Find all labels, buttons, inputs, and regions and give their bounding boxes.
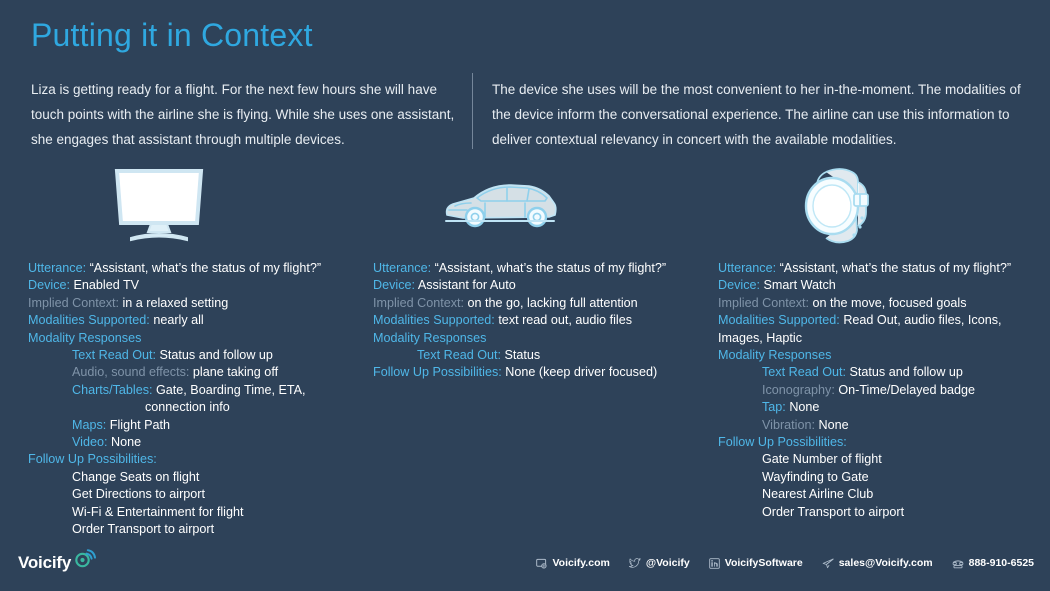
column-enabled-tv: Utterance: “Assistant, what’s the status…: [28, 160, 368, 539]
spec-row: Implied Context: on the move, focused go…: [718, 295, 1038, 312]
phone-icon: [952, 558, 964, 569]
spec-row: Utterance: “Assistant, what’s the status…: [718, 260, 1038, 277]
spec-row: Implied Context: on the go, lacking full…: [373, 295, 713, 312]
spec-row: Modalities Supported: nearly all: [28, 312, 368, 329]
spec-value: connection info: [145, 400, 230, 414]
contact-globe[interactable]: Voicify.com: [536, 557, 609, 569]
spec-value: Gate, Boarding Time, ETA,: [156, 383, 306, 397]
spec-value: Flight Path: [110, 418, 170, 432]
globe-icon: [536, 558, 547, 569]
spec-row: Tap: None: [718, 399, 1038, 416]
contact-label: VoicifySoftware: [725, 557, 803, 569]
column-smart-watch: Utterance: “Assistant, what’s the status…: [718, 160, 1038, 521]
spec-value: Nearest Airline Club: [762, 487, 873, 501]
spec-value: None: [818, 418, 848, 432]
spec-row: Order Transport to airport: [718, 504, 1038, 521]
spec-label: Utterance:: [28, 261, 90, 275]
spec-row: Iconography: On-Time/Delayed badge: [718, 382, 1038, 399]
spec-label: Iconography:: [762, 383, 838, 397]
spec-value: Assistant for Auto: [418, 278, 516, 292]
voicify-logo[interactable]: Voicify: [18, 551, 97, 575]
spec-row: Modality Responses: [373, 330, 713, 347]
contact-phone[interactable]: 888-910-6525: [952, 557, 1034, 569]
column-assistant-for-auto: Utterance: “Assistant, what’s the status…: [373, 160, 713, 382]
spec-row: Device: Enabled TV: [28, 277, 368, 294]
spec-row: Follow Up Possibilities:: [28, 451, 368, 468]
spec-row: Wayfinding to Gate: [718, 469, 1038, 486]
intro-divider: [472, 73, 473, 149]
spec-row: Device: Smart Watch: [718, 277, 1038, 294]
footer-bar: Voicify Voicify.com@VoicifyVoicifySoftwa…: [0, 543, 1050, 591]
spec-row: Text Read Out: Status and follow up: [28, 347, 368, 364]
spec-label: Vibration:: [762, 418, 818, 432]
spec-value: “Assistant, what’s the status of my flig…: [435, 261, 666, 275]
spec-value: nearly all: [153, 313, 203, 327]
twitter-icon: [629, 558, 641, 569]
spec-row: Follow Up Possibilities:: [718, 434, 1038, 451]
spec-label: Modality Responses: [28, 331, 141, 345]
footer-contacts: Voicify.com@VoicifyVoicifySoftwaresales@…: [536, 557, 1034, 569]
spec-row: Utterance: “Assistant, what’s the status…: [373, 260, 713, 277]
spec-row: Wi-Fi & Entertainment for flight: [28, 504, 368, 521]
spec-row: Nearest Airline Club: [718, 486, 1038, 503]
voicify-swirl-icon: [73, 546, 97, 575]
spec-label: Text Read Out:: [417, 348, 505, 362]
spec-label: Implied Context:: [28, 296, 123, 310]
spec-label: Follow Up Possibilities:: [28, 452, 157, 466]
contact-label: @Voicify: [646, 557, 690, 569]
spec-row: Modality Responses: [718, 347, 1038, 364]
spec-label: Device:: [373, 278, 418, 292]
page-title: Putting it in Context: [31, 17, 313, 54]
spec-row: Modality Responses: [28, 330, 368, 347]
spec-value: Gate Number of flight: [762, 452, 882, 466]
spec-label: Video:: [72, 435, 111, 449]
spec-row: Text Read Out: Status and follow up: [718, 364, 1038, 381]
spec-label: Implied Context:: [718, 296, 813, 310]
spec-value: on the go, lacking full attention: [468, 296, 638, 310]
spec-row: Video: None: [28, 434, 368, 451]
spec-value: Get Directions to airport: [72, 487, 205, 501]
spec-label: Text Read Out:: [762, 365, 850, 379]
spec-value: On-Time/Delayed badge: [838, 383, 975, 397]
spec-value: None: [789, 400, 819, 414]
spec-label: Implied Context:: [373, 296, 468, 310]
spec-label: Charts/Tables:: [72, 383, 156, 397]
spec-value: Status and follow up: [850, 365, 963, 379]
email-icon: [822, 558, 834, 569]
spec-value: in a relaxed setting: [123, 296, 229, 310]
spec-value: Order Transport to airport: [72, 522, 214, 536]
spec-row: Audio, sound effects: plane taking off: [28, 364, 368, 381]
spec-label: Follow Up Possibilities:: [718, 435, 847, 449]
spec-label: Modality Responses: [373, 331, 486, 345]
spec-value: “Assistant, what’s the status of my flig…: [780, 261, 1011, 275]
spec-row: Implied Context: in a relaxed setting: [28, 295, 368, 312]
linkedin-icon: [709, 558, 720, 569]
logo-wordmark: Voicify: [18, 553, 71, 573]
spec-label: Maps:: [72, 418, 110, 432]
spec-value: Wi-Fi & Entertainment for flight: [72, 505, 243, 519]
spec-list: Utterance: “Assistant, what’s the status…: [373, 260, 713, 382]
spec-label: Audio, sound effects:: [72, 365, 193, 379]
spec-label: Utterance:: [373, 261, 435, 275]
spec-row: Charts/Tables: Gate, Boarding Time, ETA,: [28, 382, 368, 399]
spec-list: Utterance: “Assistant, what’s the status…: [28, 260, 368, 539]
slide-canvas: Putting it in Context Liza is getting re…: [0, 0, 1050, 591]
intro-paragraph-left: Liza is getting ready for a flight. For …: [31, 77, 456, 152]
spec-row: Get Directions to airport: [28, 486, 368, 503]
spec-value: Wayfinding to Gate: [762, 470, 869, 484]
spec-value: Status: [505, 348, 541, 362]
spec-row: Modalities Supported: Read Out, audio fi…: [718, 312, 1038, 347]
spec-value: None: [111, 435, 141, 449]
car-icon: [373, 160, 713, 250]
spec-row: Gate Number of flight: [718, 451, 1038, 468]
intro-paragraph-right: The device she uses will be the most con…: [492, 77, 1027, 152]
spec-label: Device:: [28, 278, 74, 292]
spec-value: on the move, focused goals: [813, 296, 967, 310]
spec-row: connection info: [28, 399, 368, 416]
spec-label: Utterance:: [718, 261, 780, 275]
contact-email[interactable]: sales@Voicify.com: [822, 557, 933, 569]
spec-value: Status and follow up: [160, 348, 273, 362]
spec-value: Enabled TV: [74, 278, 140, 292]
spec-row: Maps: Flight Path: [28, 417, 368, 434]
contact-label: 888-910-6525: [969, 557, 1034, 569]
contact-label: sales@Voicify.com: [839, 557, 933, 569]
spec-value: text read out, audio files: [498, 313, 632, 327]
spec-row: Follow Up Possibilities: None (keep driv…: [373, 364, 713, 381]
smartwatch-icon: [718, 160, 1038, 250]
spec-row: Utterance: “Assistant, what’s the status…: [28, 260, 368, 277]
spec-row: Change Seats on flight: [28, 469, 368, 486]
spec-value: plane taking off: [193, 365, 278, 379]
spec-label: Text Read Out:: [72, 348, 160, 362]
spec-row: Vibration: None: [718, 417, 1038, 434]
television-icon: [28, 160, 368, 250]
spec-label: Modalities Supported:: [718, 313, 843, 327]
spec-list: Utterance: “Assistant, what’s the status…: [718, 260, 1038, 521]
spec-value: Smart Watch: [764, 278, 836, 292]
spec-row: Device: Assistant for Auto: [373, 277, 713, 294]
spec-label: Modalities Supported:: [373, 313, 498, 327]
spec-label: Tap:: [762, 400, 789, 414]
contact-linkedin[interactable]: VoicifySoftware: [709, 557, 803, 569]
spec-label: Follow Up Possibilities:: [373, 365, 505, 379]
spec-label: Device:: [718, 278, 764, 292]
spec-value: Change Seats on flight: [72, 470, 199, 484]
spec-label: Modalities Supported:: [28, 313, 153, 327]
spec-value: Order Transport to airport: [762, 505, 904, 519]
spec-row: Text Read Out: Status: [373, 347, 713, 364]
spec-label: Modality Responses: [718, 348, 831, 362]
spec-value: “Assistant, what’s the status of my flig…: [90, 261, 321, 275]
spec-row: Modalities Supported: text read out, aud…: [373, 312, 713, 329]
spec-value: None (keep driver focused): [505, 365, 657, 379]
spec-row: Order Transport to airport: [28, 521, 368, 538]
contact-twitter[interactable]: @Voicify: [629, 557, 690, 569]
contact-label: Voicify.com: [552, 557, 609, 569]
